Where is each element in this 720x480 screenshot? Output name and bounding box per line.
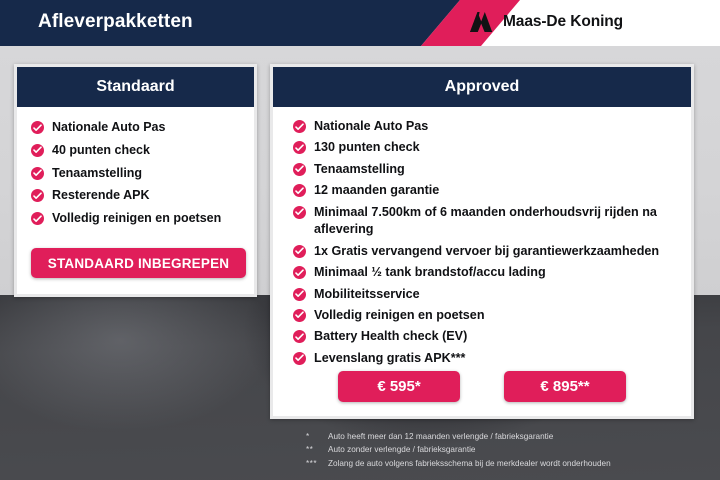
check-icon (293, 184, 306, 197)
feature-item: Minimaal 7.500km of 6 maanden onderhouds… (293, 204, 677, 240)
card-title-standaard: Standaard (17, 67, 254, 107)
card-body-standaard: Nationale Auto Pas40 punten checkTenaams… (17, 107, 254, 243)
check-icon (31, 167, 44, 180)
check-icon (293, 352, 306, 365)
feature-label: 1x Gratis vervangend vervoer bij garanti… (314, 243, 659, 261)
feature-label: Volledig reinigen en poetsen (52, 210, 221, 228)
brand-name: Maas-De Koning (503, 13, 623, 31)
feature-label: 12 maanden garantie (314, 182, 439, 200)
page-title: Afleverpakketten (38, 11, 193, 33)
check-icon (31, 144, 44, 157)
page-header: Afleverpakketten Maas-De Koning (0, 0, 720, 46)
footnote-text: Auto zonder verlengde / fabrieksgarantie (328, 443, 475, 456)
check-icon (293, 163, 306, 176)
footnote-row: ***Zolang de auto volgens fabrieksschema… (306, 457, 706, 470)
check-icon (293, 206, 306, 219)
feature-item: Nationale Auto Pas (31, 119, 240, 137)
feature-label: Nationale Auto Pas (52, 119, 165, 137)
footnote-row: *Auto heeft meer dan 12 maanden verlengd… (306, 430, 706, 443)
feature-label: Minimaal ½ tank brandstof/accu lading (314, 264, 546, 282)
feature-label: Levenslang gratis APK*** (314, 350, 465, 368)
feature-label: 130 punten check (314, 139, 420, 157)
feature-list-approved: Nationale Auto Pas130 punten checkTenaam… (293, 118, 677, 368)
feature-item: Mobiliteitsservice (293, 286, 677, 304)
feature-item: 12 maanden garantie (293, 182, 677, 200)
feature-item: 40 punten check (31, 142, 240, 160)
check-icon (293, 309, 306, 322)
feature-item: Levenslang gratis APK*** (293, 350, 677, 368)
feature-label: 40 punten check (52, 142, 150, 160)
card-body-approved: Nationale Auto Pas130 punten checkTenaam… (273, 107, 691, 379)
price-button-1[interactable]: € 595* (338, 371, 460, 402)
footnote-marker: *** (306, 457, 328, 470)
footnote-row: **Auto zonder verlengde / fabrieksgarant… (306, 443, 706, 456)
check-icon (31, 121, 44, 134)
feature-label: Tenaamstelling (314, 161, 405, 179)
footnote-marker: ** (306, 443, 328, 456)
maas-de-koning-logo-mark-icon (468, 11, 494, 33)
standaard-inbegrepen-button[interactable]: STANDAARD INBEGREPEN (31, 248, 246, 278)
check-icon (293, 266, 306, 279)
card-title-approved: Approved (273, 67, 691, 107)
feature-item: Volledig reinigen en poetsen (31, 210, 240, 228)
feature-item: Resterende APK (31, 187, 240, 205)
feature-label: Volledig reinigen en poetsen (314, 307, 485, 325)
feature-item: Volledig reinigen en poetsen (293, 307, 677, 325)
package-card-approved: Approved Nationale Auto Pas130 punten ch… (270, 64, 694, 419)
footnote-text: Zolang de auto volgens fabrieksschema bi… (328, 457, 611, 470)
feature-label: Resterende APK (52, 187, 150, 205)
check-icon (293, 141, 306, 154)
check-icon (31, 189, 44, 202)
check-icon (293, 330, 306, 343)
feature-label: Minimaal 7.500km of 6 maanden onderhouds… (314, 204, 677, 240)
feature-label: Battery Health check (EV) (314, 328, 467, 346)
check-icon (293, 120, 306, 133)
feature-item: Tenaamstelling (293, 161, 677, 179)
feature-label: Tenaamstelling (52, 165, 142, 183)
feature-item: 130 punten check (293, 139, 677, 157)
footnotes: *Auto heeft meer dan 12 maanden verlengd… (306, 430, 706, 470)
feature-item: Tenaamstelling (31, 165, 240, 183)
page-root: Afleverpakketten Maas-De Koning Standaar… (0, 0, 720, 480)
feature-label: Mobiliteitsservice (314, 286, 420, 304)
package-card-standaard: Standaard Nationale Auto Pas40 punten ch… (14, 64, 257, 297)
check-icon (31, 212, 44, 225)
feature-item: Nationale Auto Pas (293, 118, 677, 136)
footnote-text: Auto heeft meer dan 12 maanden verlengde… (328, 430, 553, 443)
feature-item: Minimaal ½ tank brandstof/accu lading (293, 264, 677, 282)
feature-item: 1x Gratis vervangend vervoer bij garanti… (293, 243, 677, 261)
feature-list-standaard: Nationale Auto Pas40 punten checkTenaams… (31, 119, 240, 228)
feature-item: Battery Health check (EV) (293, 328, 677, 346)
price-button-row: € 595*€ 895** (273, 371, 691, 402)
check-icon (293, 245, 306, 258)
footnote-marker: * (306, 430, 328, 443)
brand-logo: Maas-De Koning (468, 11, 623, 33)
check-icon (293, 288, 306, 301)
feature-label: Nationale Auto Pas (314, 118, 428, 136)
price-button-2[interactable]: € 895** (504, 371, 626, 402)
